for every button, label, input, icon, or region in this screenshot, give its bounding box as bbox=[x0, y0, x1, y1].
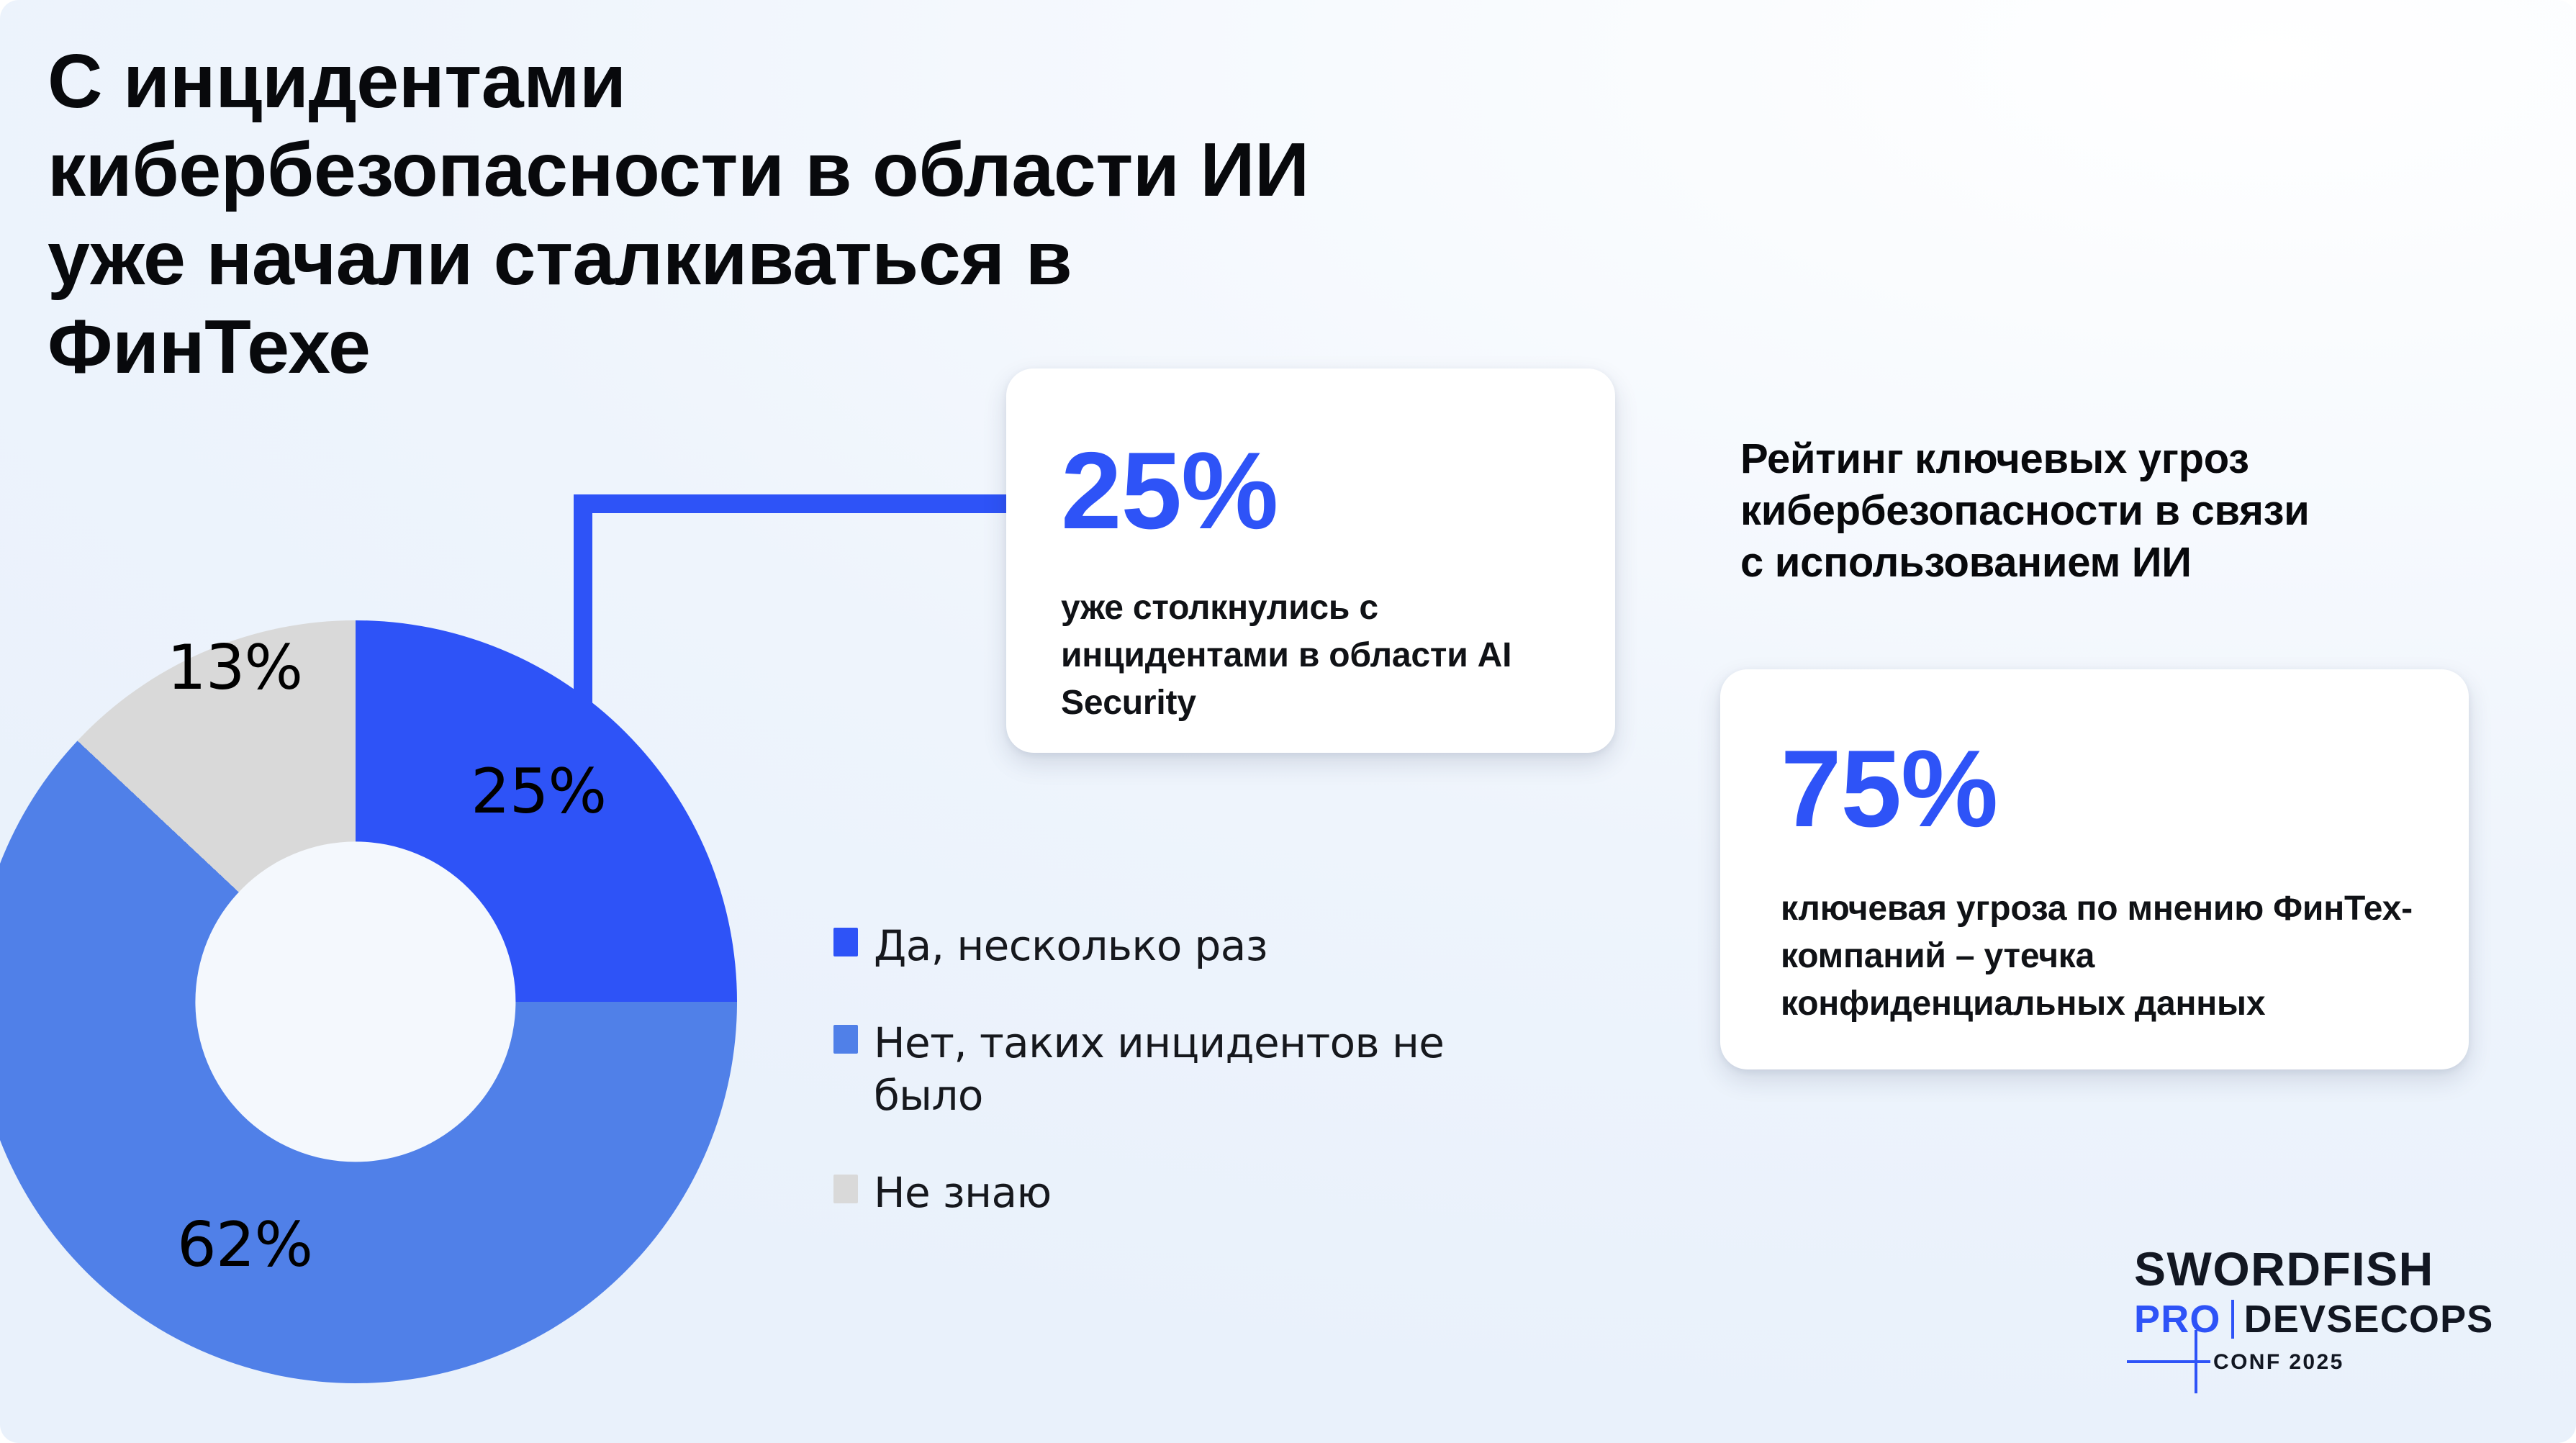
logo-pro-text: PRO bbox=[2134, 1300, 2221, 1339]
legend-label-1: Нет, таких инцидентов не было bbox=[874, 1017, 1481, 1122]
logo-divider-icon bbox=[2231, 1300, 2234, 1339]
callout-body-75: ключевая угроза по мнению ФинТех-компани… bbox=[1781, 885, 2436, 1028]
legend-label-2: Не знаю bbox=[874, 1167, 1052, 1219]
callout-body-25: уже столкнулись с инцидентами в области … bbox=[1061, 584, 1579, 728]
logo-product-text: DEVSECOPS bbox=[2244, 1300, 2494, 1339]
page-title: С инцидентами кибербезопасности в област… bbox=[48, 37, 1617, 392]
donut-chart bbox=[0, 620, 737, 1383]
legend-item-0[interactable]: Да, несколько раз bbox=[833, 920, 1481, 972]
legend-label-0: Да, несколько раз bbox=[874, 920, 1267, 972]
legend-swatch-icon-2 bbox=[833, 1175, 858, 1203]
donut-slice-label-2: 62% bbox=[177, 1209, 312, 1281]
callout-percent-25: 25% bbox=[1061, 436, 1278, 546]
right-section-heading: Рейтинг ключевых угроз кибербезопасности… bbox=[1740, 433, 2503, 589]
slide-canvas: С инцидентами кибербезопасности в област… bbox=[0, 0, 2576, 1443]
donut-slice-label-1: 25% bbox=[471, 756, 606, 828]
legend-swatch-icon-1 bbox=[833, 1025, 858, 1054]
logo-cross-vertical-icon bbox=[2195, 1330, 2197, 1393]
logo-brand-name: SWORDFISH bbox=[2134, 1245, 2434, 1293]
callout-card-75: 75% ключевая угроза по мнению ФинТех-ком… bbox=[1720, 669, 2469, 1069]
legend-item-2[interactable]: Не знаю bbox=[833, 1167, 1481, 1219]
donut-slice-label-3: 13% bbox=[167, 632, 302, 704]
chart-legend: Да, несколько раз Нет, таких инцидентов … bbox=[833, 920, 1481, 1264]
logo-cross-horizontal-icon bbox=[2127, 1360, 2210, 1363]
callout-percent-75: 75% bbox=[1781, 734, 1997, 843]
swordfish-logo: SWORDFISH PRO DEVSECOPS CONF 2025 bbox=[2127, 1245, 2472, 1371]
legend-item-1[interactable]: Нет, таких инцидентов не было bbox=[833, 1017, 1481, 1122]
donut-hole bbox=[195, 841, 515, 1162]
logo-conf-text: CONF 2025 bbox=[2213, 1352, 2344, 1373]
legend-swatch-icon-0 bbox=[833, 928, 858, 956]
logo-product-row: PRO DEVSECOPS bbox=[2134, 1300, 2494, 1339]
callout-card-25: 25% уже столкнулись с инцидентами в обла… bbox=[1006, 368, 1615, 753]
